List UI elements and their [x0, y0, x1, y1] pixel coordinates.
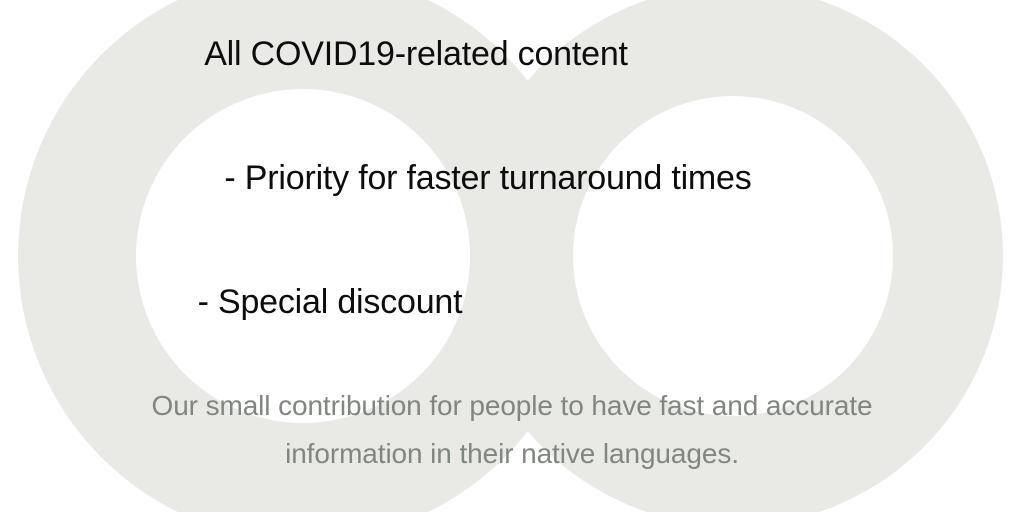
footnote-line-1: Our small contribution for people to hav…: [0, 382, 1024, 430]
footnote-paragraph: Our small contribution for people to hav…: [0, 382, 1024, 478]
promo-bullet-discount: - Special discount: [0, 280, 842, 324]
promo-bullet-priority: - Priority for faster turnaround times: [0, 156, 1000, 200]
page-title: All COVID19-related content: [0, 32, 928, 76]
promo-text-layer: All COVID19-related content - Priority f…: [0, 0, 1024, 512]
footnote-line-2: information in their native languages.: [0, 430, 1024, 478]
promo-banner: All COVID19-related content - Priority f…: [0, 0, 1024, 512]
